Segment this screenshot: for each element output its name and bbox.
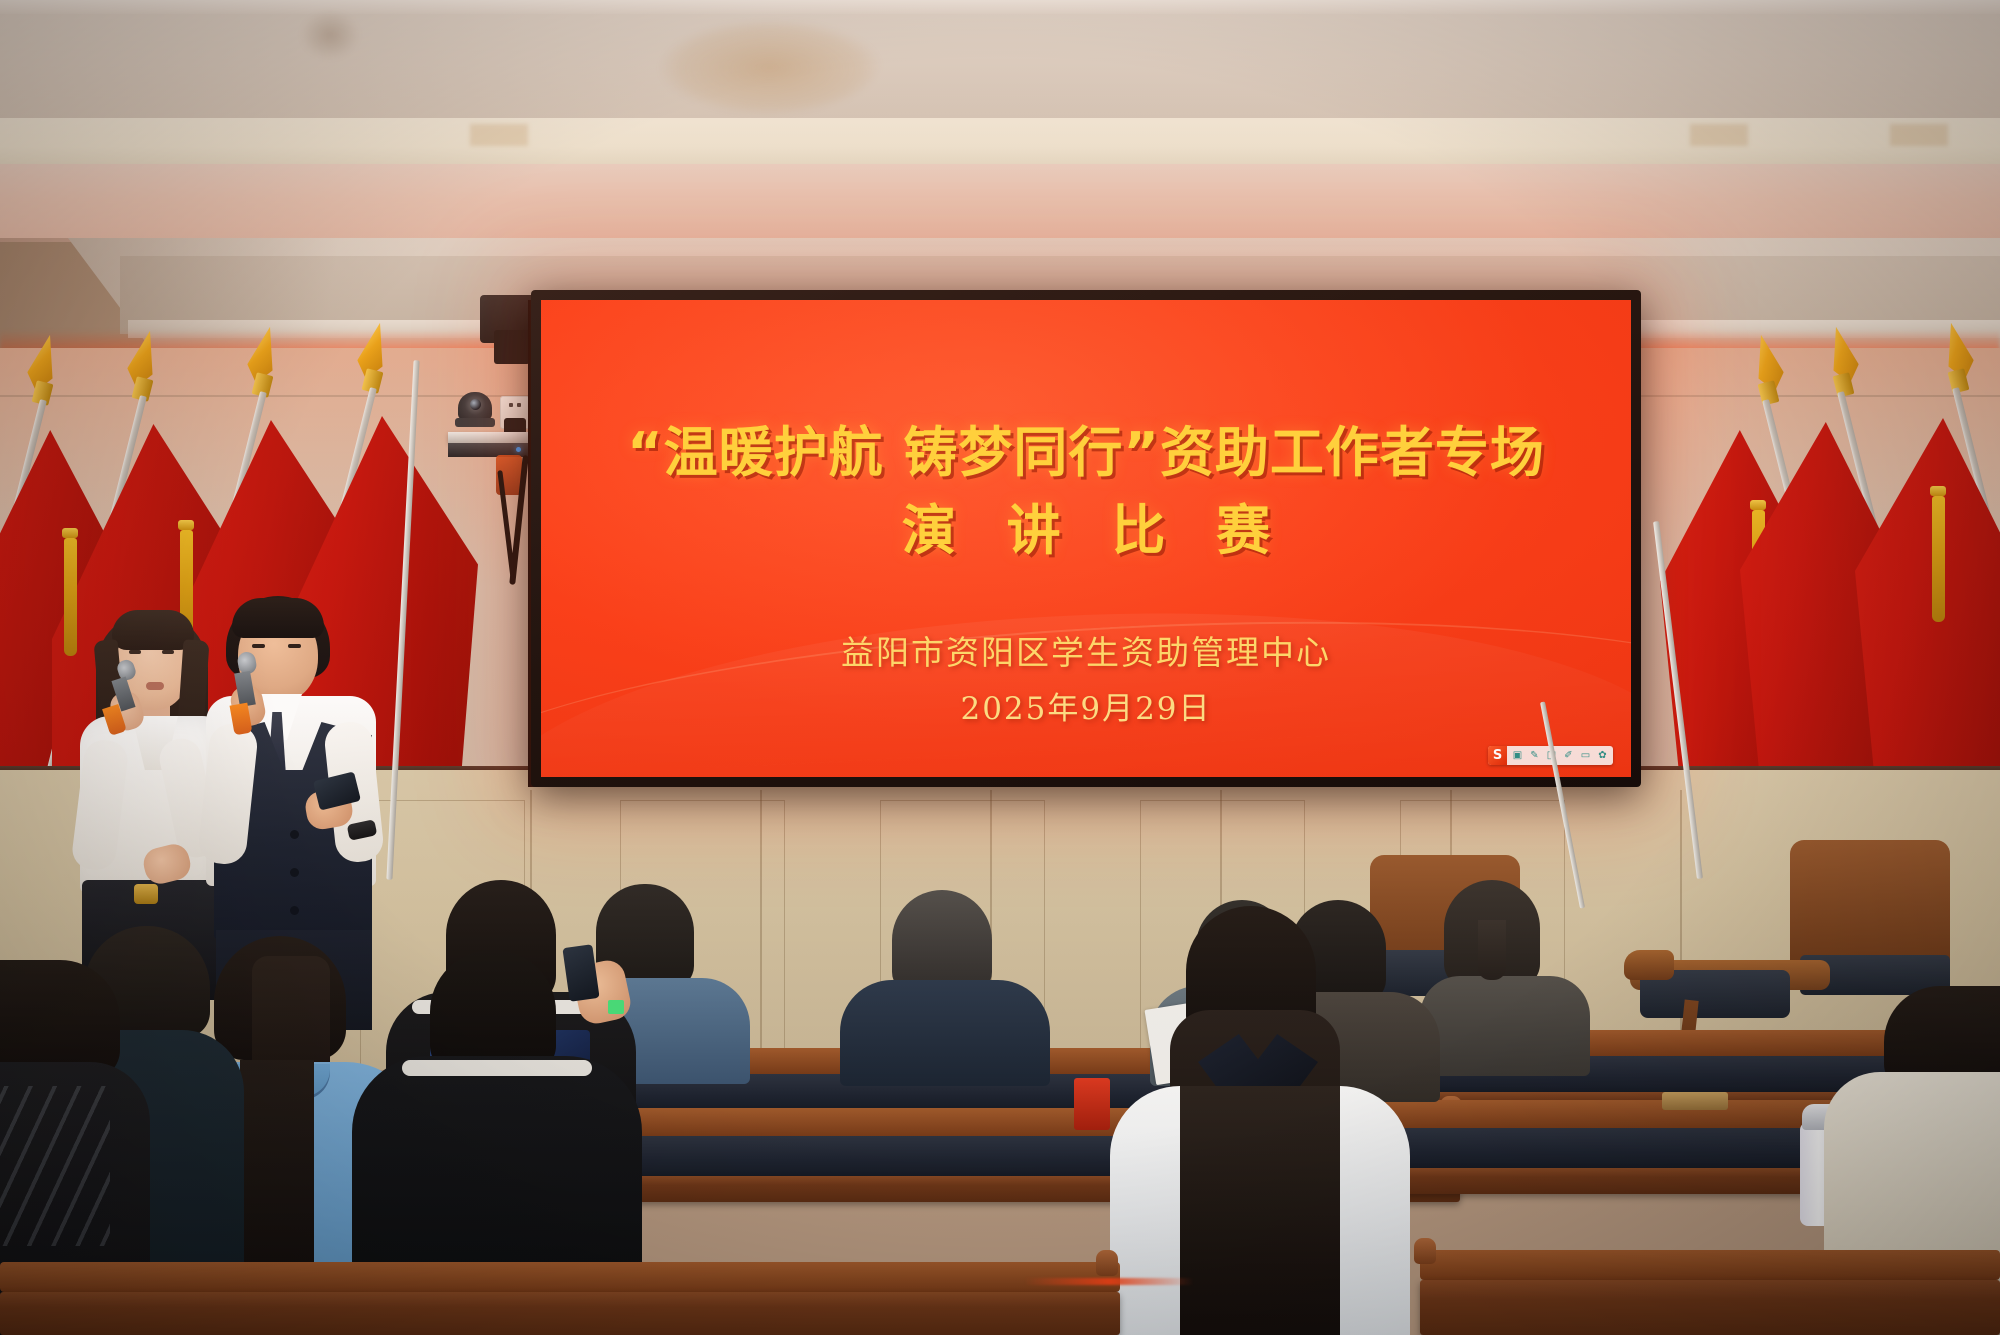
vest-button	[290, 868, 299, 877]
bench-item	[1662, 1092, 1728, 1110]
pen-icon[interactable]: ✎	[1528, 749, 1541, 762]
bench-end-knob	[1414, 1238, 1436, 1264]
fabric-pattern	[0, 1086, 110, 1246]
bench-rail	[1420, 1280, 2000, 1335]
ponytail-front	[240, 1060, 314, 1290]
auditorium-photo: “温暖护航 铸梦同行”资助工作者专场 演 讲 比 赛 益阳市资阳区学生资助管理中…	[0, 0, 2000, 1335]
mouth	[146, 682, 164, 690]
ambient-red-light	[1024, 1278, 1194, 1285]
eye	[252, 644, 265, 648]
bench-rail	[0, 1292, 1120, 1335]
wooden-armchair-back	[1790, 840, 1950, 970]
projector-mount-arm	[494, 330, 530, 364]
ponytail	[1478, 920, 1506, 980]
flag-tassel-cap	[178, 520, 194, 530]
eraser-icon[interactable]: ▭	[1579, 749, 1592, 762]
slide-title-line2: 演 讲 比 赛	[541, 486, 1631, 565]
torso	[1420, 976, 1590, 1076]
hair	[430, 950, 556, 1072]
flag-tassel-cap	[1930, 486, 1946, 496]
phone-indicator-light	[608, 1000, 624, 1014]
ceiling-light-band	[0, 118, 2000, 166]
vest-button	[290, 906, 299, 915]
bench-end-knob	[1096, 1250, 1118, 1276]
ceiling-water-stain-small	[300, 10, 360, 60]
hair	[892, 890, 992, 994]
belt-buckle	[134, 884, 158, 904]
ceiling-warm-reflection	[0, 164, 2000, 242]
armchair-armrest-scroll	[1624, 950, 1674, 980]
webcam-stand	[455, 418, 495, 427]
bench-backrest	[0, 1262, 1120, 1292]
select-icon[interactable]: ▣	[1511, 749, 1524, 762]
flag-tassel-cap	[1750, 500, 1766, 510]
hair-fringe	[112, 610, 194, 650]
red-booklet	[1074, 1078, 1110, 1130]
torso	[840, 980, 1050, 1086]
highlighter-icon[interactable]: ✐	[1562, 749, 1575, 762]
flag-tassel	[1932, 496, 1945, 622]
slide-title-line1: “温暖护航 铸梦同行”资助工作者专场	[541, 408, 1631, 487]
bench-backrest	[1420, 1250, 2000, 1280]
hair-fringe	[232, 598, 324, 638]
flag-tassel-cap	[62, 528, 78, 538]
long-hair-front	[1180, 1086, 1340, 1335]
eye	[288, 644, 301, 648]
vest-button	[290, 830, 299, 839]
slide-date: 2025年9月29日	[541, 683, 1631, 728]
slide-organization: 益阳市资阳区学生资助管理中心	[541, 626, 1631, 674]
led-display-screen[interactable]: “温暖护航 铸梦同行”资助工作者专场 演 讲 比 赛 益阳市资阳区学生资助管理中…	[541, 300, 1631, 777]
webcam-lens-icon	[470, 399, 481, 410]
settings-icon[interactable]: ✿	[1596, 749, 1609, 762]
whiteboard-logo-icon[interactable]: S	[1488, 746, 1507, 765]
eye	[129, 650, 141, 654]
status-led-icon	[516, 447, 521, 452]
eye	[162, 650, 174, 654]
tshirt-collar	[402, 1060, 592, 1076]
flag-tassel	[64, 538, 77, 656]
